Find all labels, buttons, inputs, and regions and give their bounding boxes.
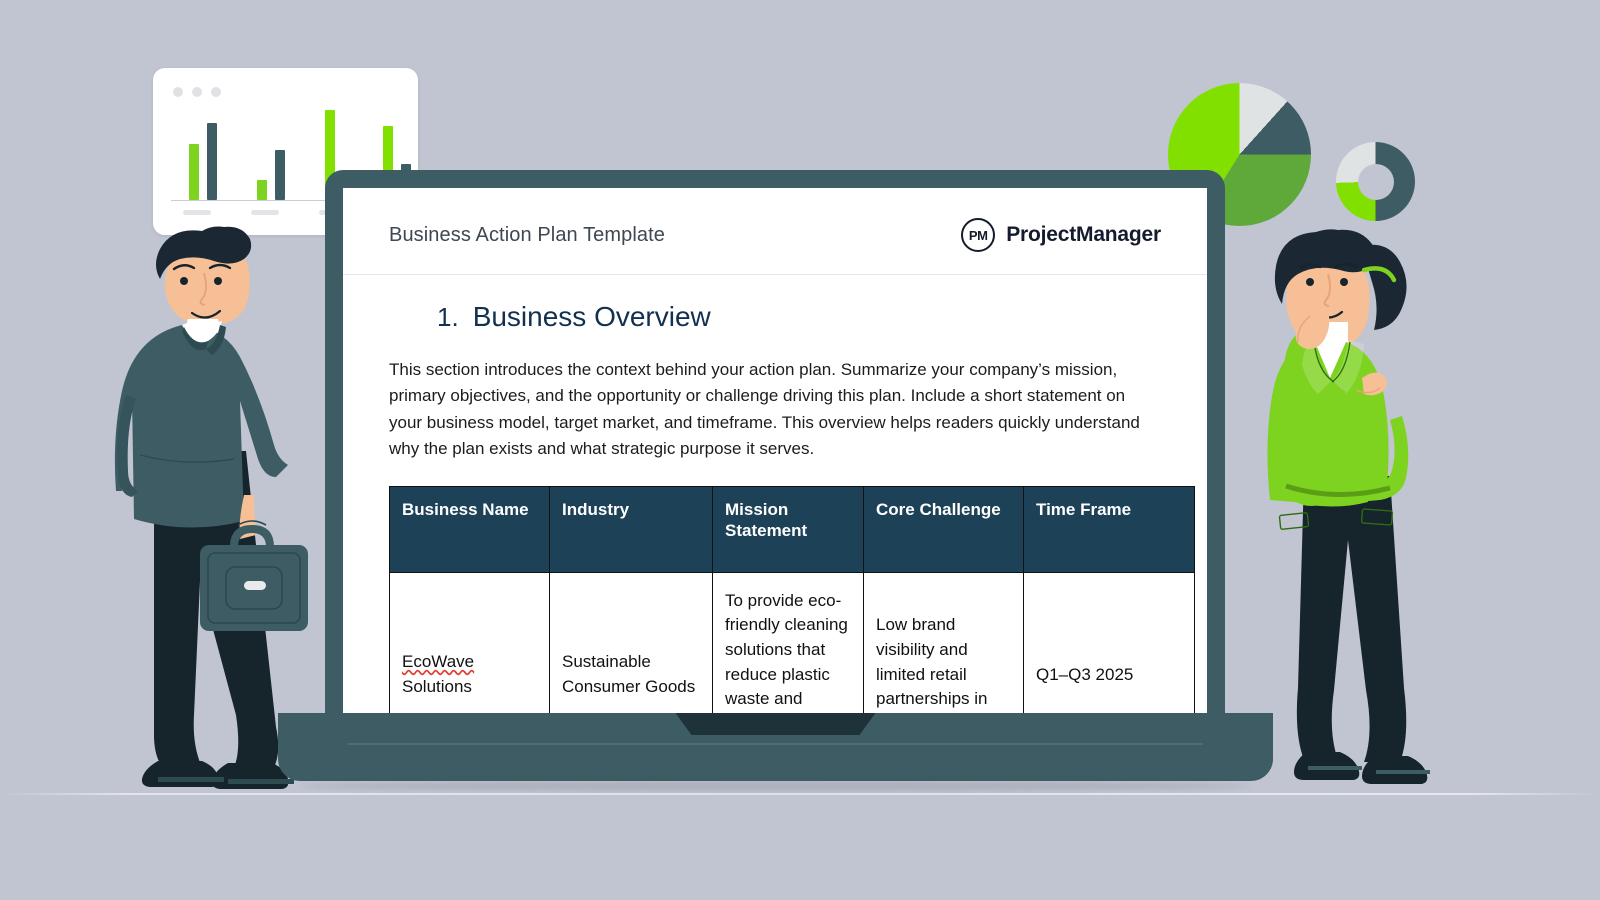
column-header-mission-statement: Mission Statement (713, 487, 864, 572)
bar-green (257, 180, 267, 200)
businessman-with-briefcase-illustration (96, 215, 326, 795)
business-overview-table: Business Name Industry Mission Statement… (389, 486, 1195, 715)
column-header-time-frame: Time Frame (1024, 487, 1195, 572)
cell-industry[interactable]: Sustainable Consumer Goods (550, 572, 713, 715)
illustration-stage: Business Action Plan Template PM Project… (0, 0, 1600, 900)
column-header-business-name: Business Name (390, 487, 550, 572)
brand-name: ProjectManager (1006, 223, 1161, 247)
pm-circle-icon: PM (961, 218, 995, 252)
table-row: EcoWave Solutions Sustainable Consumer G… (390, 572, 1195, 715)
section-heading: 1. Business Overview (437, 301, 1161, 333)
projectmanager-logo: PM ProjectManager (961, 218, 1161, 252)
laptop-screen: Business Action Plan Template PM Project… (343, 188, 1207, 715)
document-title: Business Action Plan Template (389, 224, 665, 247)
table-head: Business Name Industry Mission Statement… (390, 487, 1195, 572)
businesswoman-figure (1267, 229, 1430, 784)
document-header: Business Action Plan Template PM Project… (343, 188, 1207, 275)
bar-slate (275, 150, 285, 200)
window-dot (173, 87, 183, 97)
businessman-figure (115, 227, 308, 790)
document-body: 1. Business Overview This section introd… (343, 275, 1207, 715)
column-header-industry: Industry (550, 487, 713, 572)
table-body: EcoWave Solutions Sustainable Consumer G… (390, 572, 1195, 715)
businesswoman-thinking-illustration (1258, 218, 1443, 793)
donut-chart (1336, 142, 1415, 221)
business-name-rest: Solutions (402, 677, 472, 696)
misspelled-word: EcoWave (402, 652, 474, 671)
window-dot (192, 87, 202, 97)
window-dots (173, 87, 221, 97)
bar-slate (207, 123, 217, 200)
laptop-lid: Business Action Plan Template PM Project… (325, 170, 1225, 715)
cell-business-name[interactable]: EcoWave Solutions (390, 572, 550, 715)
column-header-core-challenge: Core Challenge (864, 487, 1024, 572)
cell-time-frame[interactable]: Q1–Q3 2025 (1024, 572, 1195, 715)
bar-green (189, 144, 199, 200)
table-header-row: Business Name Industry Mission Statement… (390, 487, 1195, 572)
cell-mission-statement[interactable]: To provide eco-friendly cleaning solutio… (713, 572, 864, 715)
section-title: Business Overview (473, 301, 711, 333)
section-intro-paragraph: This section introduces the context behi… (389, 357, 1161, 462)
window-dot (211, 87, 221, 97)
section-number: 1. (437, 302, 459, 333)
laptop-base (278, 713, 1273, 781)
cell-core-challenge[interactable]: Low brand visibility and limited retail … (864, 572, 1024, 715)
laptop-shadow (300, 781, 1250, 791)
